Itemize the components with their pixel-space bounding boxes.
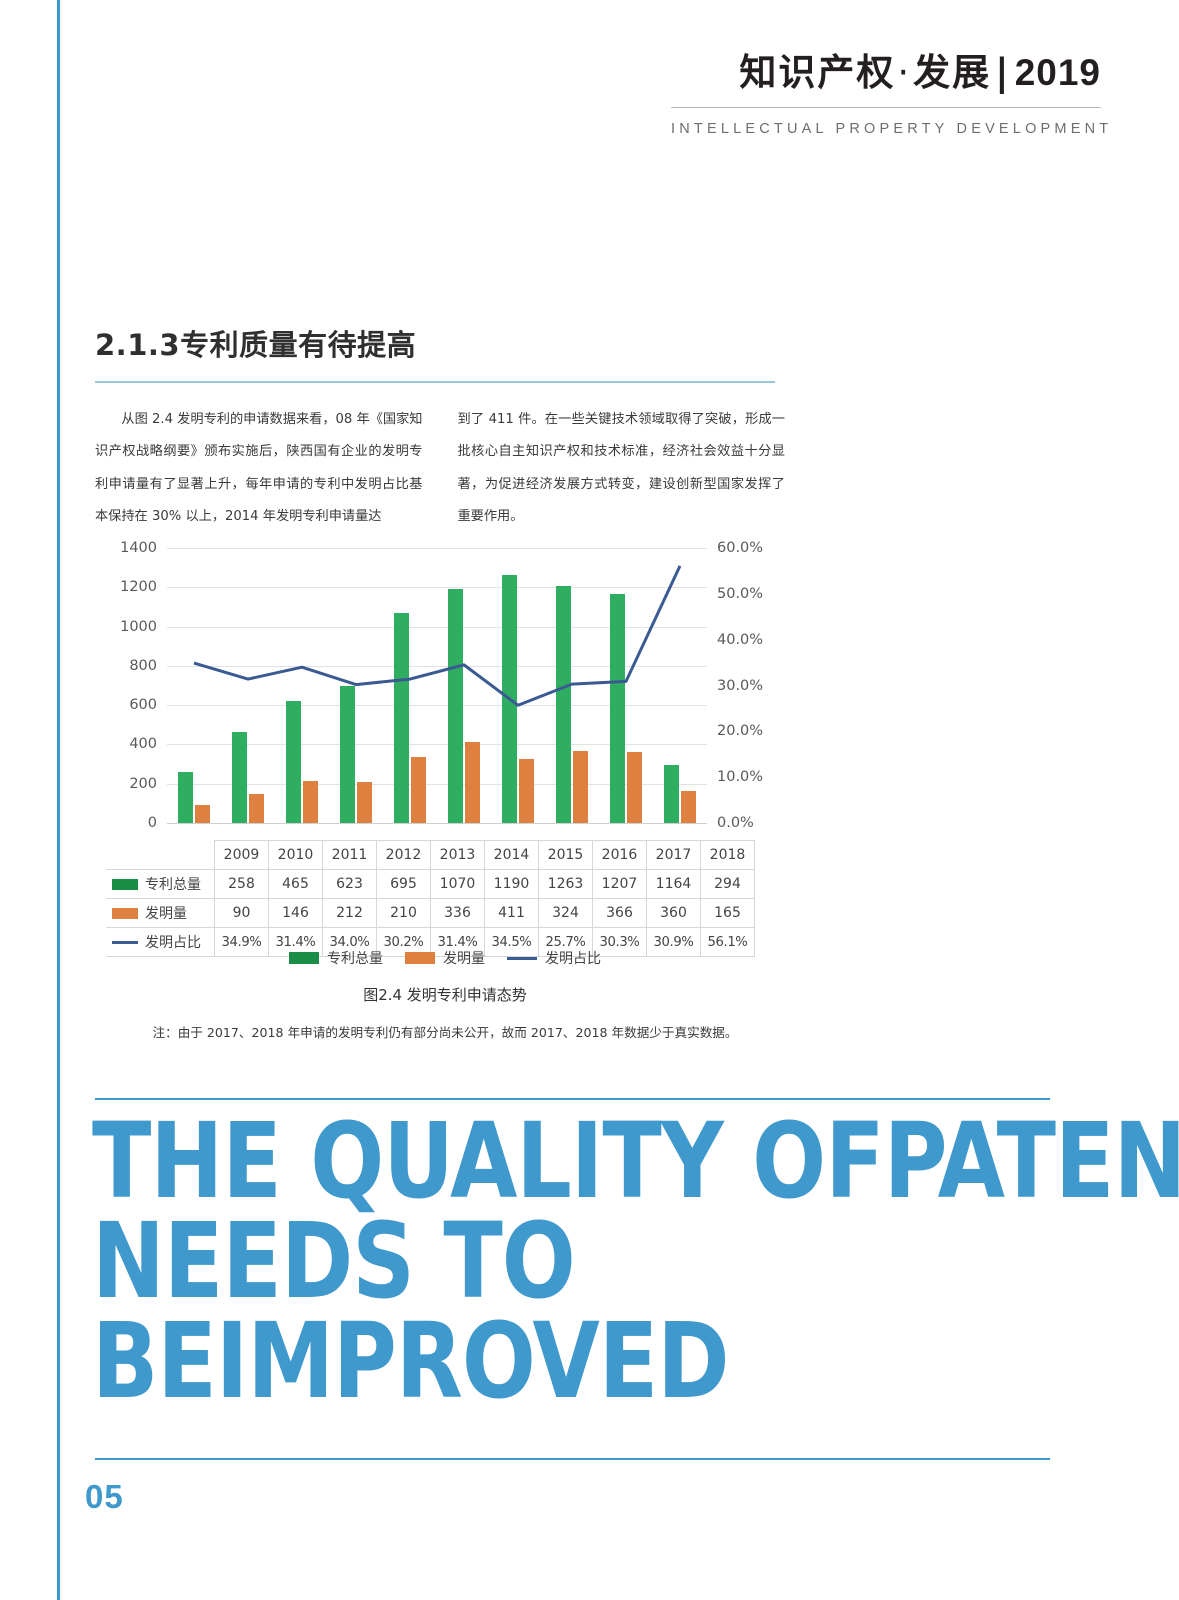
document-header: 知识产权·发展|2019 INTELLECTUAL PROPERTY DEVEL…	[671, 52, 1101, 137]
right-axis-tick-label: 40.0%	[717, 632, 763, 648]
headline-line-1: THE QUALITY OFPATENTS	[92, 1112, 994, 1212]
figure-2-4-chart: 0200400600800100012001400 0.0%10.0%20.0%…	[95, 548, 795, 1018]
body-column-left: 从图 2.4 发明专利的申请数据来看，08 年《国家知识产权战略纲要》颁布实施后…	[95, 404, 423, 533]
left-axis-tick-label: 1000	[120, 619, 157, 635]
paragraph-left-text: 从图 2.4 发明专利的申请数据来看，08 年《国家知识产权战略纲要》颁布实施后…	[95, 412, 423, 524]
table-header-year: 2011	[323, 841, 377, 870]
chart-right-axis: 0.0%10.0%20.0%30.0%40.0%50.0%60.0%	[717, 548, 797, 823]
chart-left-axis: 0200400600800100012001400	[95, 548, 157, 823]
table-row-header: 发明量	[106, 899, 215, 928]
legend-swatch-icon	[405, 952, 435, 964]
table-cell-value: 146	[269, 899, 323, 928]
table-cell-value: 465	[269, 870, 323, 899]
header-rule	[671, 107, 1101, 108]
chart-legend: 专利总量发明量发明占比	[95, 948, 795, 968]
table-cell-value: 336	[431, 899, 485, 928]
table-row: 2009201020112012201320142015201620172018	[106, 841, 755, 870]
table-header-year: 2016	[593, 841, 647, 870]
header-title-part1: 知识产权	[739, 51, 895, 94]
legend-swatch-icon	[289, 952, 319, 964]
headline-rule-bottom	[95, 1458, 1050, 1460]
headline-line-3: BEIMPROVED	[92, 1312, 994, 1412]
table-row-header: 专利总量	[106, 870, 215, 899]
left-axis-tick-label: 1400	[120, 540, 157, 556]
header-title-separator: ·	[895, 51, 913, 94]
left-axis-tick-label: 600	[129, 697, 157, 713]
table-header-year: 2012	[377, 841, 431, 870]
table-cell-value: 411	[485, 899, 539, 928]
chart-line-layer	[167, 548, 707, 823]
paragraph-right-text: 到了 411 件。在一些关键技术领域取得了突破，形成一批核心自主知识产权和技术标…	[458, 412, 786, 524]
body-text-columns: 从图 2.4 发明专利的申请数据来看，08 年《国家知识产权战略纲要》颁布实施后…	[95, 404, 785, 533]
table-cell-value: 1070	[431, 870, 485, 899]
right-axis-tick-label: 50.0%	[717, 586, 763, 602]
series-name-label: 专利总量	[145, 877, 201, 893]
table-header-year: 2009	[215, 841, 269, 870]
chart-gridline	[167, 823, 707, 824]
left-axis-tick-label: 1200	[120, 579, 157, 595]
legend-label: 专利总量	[327, 948, 383, 968]
left-axis-tick-label: 0	[148, 815, 157, 831]
table-cell-value: 165	[701, 899, 755, 928]
line-invention-share	[194, 566, 680, 705]
table-cell-value: 324	[539, 899, 593, 928]
header-title-cn: 知识产权·发展|2019	[671, 52, 1101, 95]
legend-item: 专利总量	[289, 948, 383, 968]
chart-plot-area	[167, 548, 707, 823]
headline-block: THE QUALITY OFPATENTS NEEDS TO BEIMPROVE…	[92, 1112, 994, 1411]
table-cell-value: 294	[701, 870, 755, 899]
left-accent-line	[57, 0, 60, 1600]
table-header-year: 2014	[485, 841, 539, 870]
left-decorative-rail	[0, 0, 58, 1600]
right-axis-tick-label: 10.0%	[717, 769, 763, 785]
table-cell-value: 695	[377, 870, 431, 899]
header-year: 2019	[1015, 52, 1101, 93]
table-cell-value: 90	[215, 899, 269, 928]
table-header-year: 2015	[539, 841, 593, 870]
legend-item: 发明量	[405, 948, 485, 968]
right-axis-tick-label: 60.0%	[717, 540, 763, 556]
table-cell-value: 366	[593, 899, 647, 928]
table-header-year: 2013	[431, 841, 485, 870]
header-divider-bar: |	[991, 51, 1015, 94]
left-axis-tick-label: 400	[129, 736, 157, 752]
table-cell-value: 1263	[539, 870, 593, 899]
series-swatch-icon	[112, 879, 138, 890]
page-title: 2.1.3专利质量有待提高	[95, 322, 416, 364]
table-row: 发明量90146212210336411324366360165	[106, 899, 755, 928]
right-axis-tick-label: 0.0%	[717, 815, 754, 831]
series-swatch-icon	[112, 908, 138, 919]
series-name-label: 发明量	[145, 906, 187, 922]
legend-swatch-icon	[507, 957, 537, 960]
chart-data-table: 2009201020112012201320142015201620172018…	[106, 840, 755, 957]
headline-line-2: NEEDS TO	[92, 1212, 994, 1312]
table-cell-value: 1207	[593, 870, 647, 899]
figure-note: 注：由于 2017、2018 年申请的发明专利仍有部分尚未公开，故而 2017、…	[95, 1022, 795, 1041]
body-column-right: 到了 411 件。在一些关键技术领域取得了突破，形成一批核心自主知识产权和技术标…	[458, 404, 786, 533]
right-axis-tick-label: 20.0%	[717, 723, 763, 739]
legend-item: 发明占比	[507, 948, 601, 968]
left-axis-tick-label: 800	[129, 658, 157, 674]
table-cell-value: 1164	[647, 870, 701, 899]
header-title-part2: 发展	[913, 51, 991, 94]
right-axis-tick-label: 30.0%	[717, 678, 763, 694]
table-cell-value: 360	[647, 899, 701, 928]
table-cell-value: 1190	[485, 870, 539, 899]
table-cell-value: 210	[377, 899, 431, 928]
table-cell-value: 258	[215, 870, 269, 899]
header-subtitle-en: INTELLECTUAL PROPERTY DEVELOPMENT	[671, 121, 1101, 137]
table-row: 专利总量25846562369510701190126312071164294	[106, 870, 755, 899]
table-cell-value: 212	[323, 899, 377, 928]
legend-label: 发明量	[443, 948, 485, 968]
table-header-year: 2017	[647, 841, 701, 870]
table-header-year: 2010	[269, 841, 323, 870]
table-header-year: 2018	[701, 841, 755, 870]
table-corner-cell	[106, 841, 215, 870]
page-number: 05	[85, 1478, 124, 1516]
left-axis-tick-label: 200	[129, 776, 157, 792]
figure-caption: 图2.4 发明专利申请态势	[95, 984, 795, 1005]
series-swatch-icon	[112, 941, 138, 944]
legend-label: 发明占比	[545, 948, 601, 968]
section-title-underline	[95, 381, 775, 383]
chart-plot-wrapper: 0200400600800100012001400 0.0%10.0%20.0%…	[95, 548, 795, 840]
table-cell-value: 623	[323, 870, 377, 899]
